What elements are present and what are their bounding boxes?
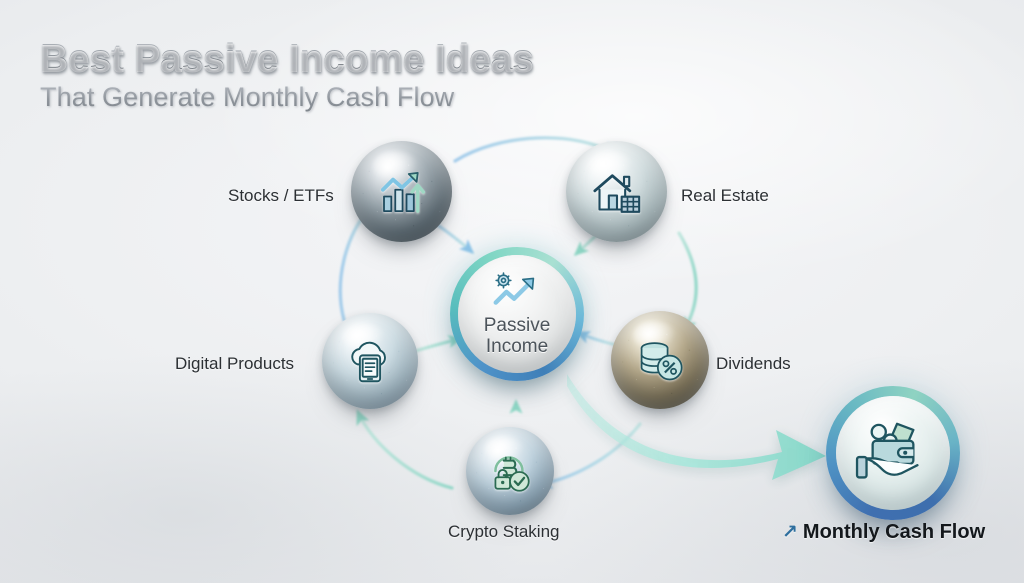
cash-flow-sphere-face (836, 396, 950, 510)
trend-up-arrow-icon: ↗ (782, 522, 798, 543)
sphere-crypto-staking (466, 427, 554, 515)
sphere-digital-products (322, 313, 418, 409)
label-monthly-cash-flow: ↗Monthly Cash Flow (782, 521, 985, 544)
sphere-real-estate (566, 141, 667, 242)
bar-chart-growth-icon (375, 165, 429, 219)
node-real-estate[interactable] (566, 141, 667, 242)
growth-gear-arrow-icon (490, 271, 544, 311)
cloud-document-icon (343, 334, 397, 388)
page-subtitle: That Generate Monthly Cash Flow (40, 83, 534, 113)
sphere-stocks (351, 141, 452, 242)
arrow-dividends-to-crypto (540, 424, 640, 484)
label-real-estate: Real Estate (681, 186, 769, 206)
node-digital-products[interactable] (322, 313, 418, 409)
coins-percent-icon (634, 334, 686, 386)
cash-flow-sphere-ring (826, 386, 960, 520)
house-icon (589, 164, 645, 220)
label-dividends: Dividends (716, 354, 791, 374)
hand-wallet-cash-icon (855, 417, 931, 489)
arrow-crypto-to-digital-products (358, 412, 452, 488)
center-label: Passive Income (484, 315, 551, 358)
title-block: Best Passive Income Ideas That Generate … (40, 38, 534, 113)
label-crypto-staking: Crypto Staking (448, 522, 560, 542)
node-dividends[interactable] (611, 311, 709, 409)
node-crypto-staking[interactable] (466, 427, 554, 515)
label-monthly-cash-flow-text: Monthly Cash Flow (803, 521, 985, 543)
center-sphere-ring: Passive Income (450, 247, 584, 381)
node-monthly-cash-flow[interactable] (826, 386, 960, 520)
node-passive-income-center[interactable]: Passive Income (450, 247, 584, 381)
bitcoin-lock-check-icon (485, 446, 535, 496)
label-digital-products: Digital Products (175, 354, 294, 374)
label-stocks: Stocks / ETFs (228, 186, 334, 206)
node-stocks[interactable] (351, 141, 452, 242)
center-sphere-face: Passive Income (458, 255, 576, 373)
sphere-dividends (611, 311, 709, 409)
page-title: Best Passive Income Ideas (40, 38, 534, 79)
infographic-canvas: Best Passive Income Ideas That Generate … (0, 0, 1024, 583)
